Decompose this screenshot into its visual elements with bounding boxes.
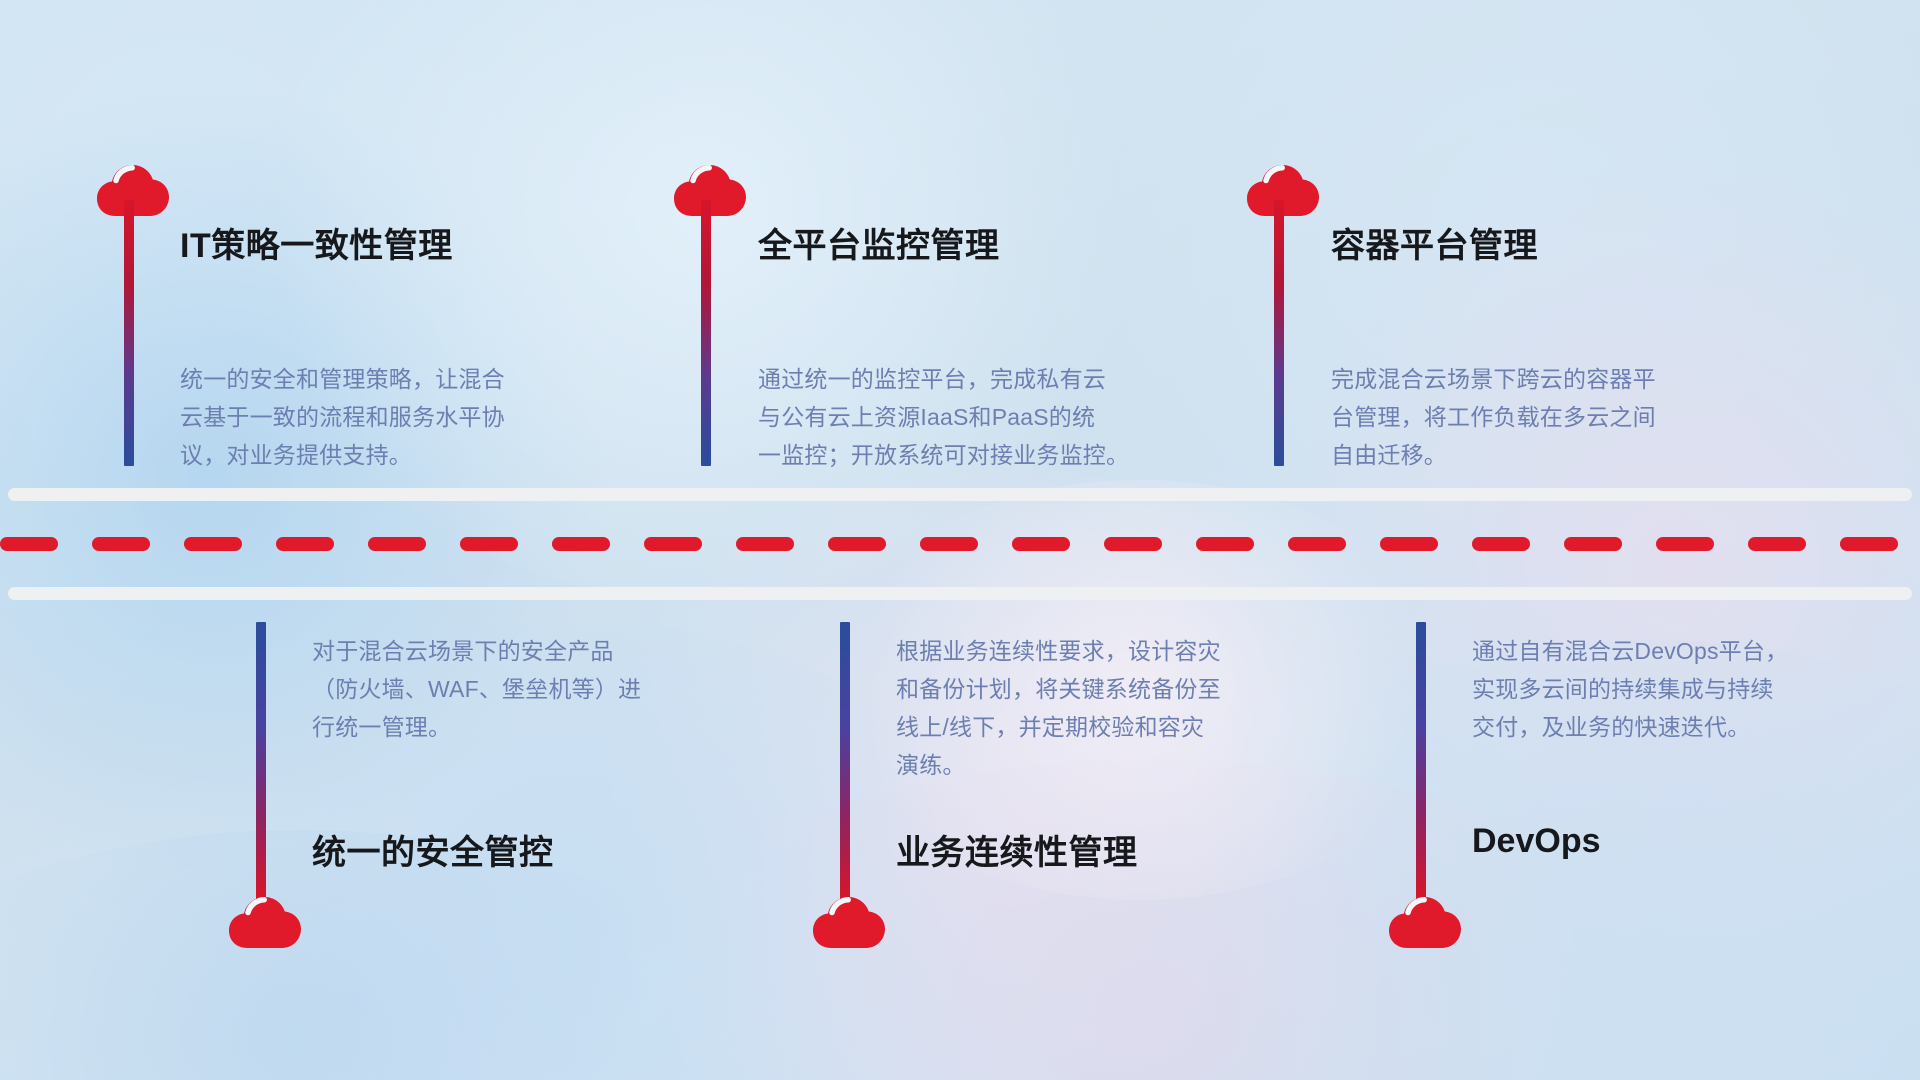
road-divider	[0, 488, 1920, 600]
cloud-icon	[672, 160, 750, 218]
body-line: 云基于一致的流程和服务水平协	[180, 398, 505, 436]
column-body: 对于混合云场景下的安全产品 （防火墙、WAF、堡垒机等）进 行统一管理。	[312, 632, 641, 746]
column-body: 完成混合云场景下跨云的容器平 台管理，将工作负载在多云之间 自由迁移。	[1331, 360, 1656, 474]
road-dash	[1564, 537, 1622, 551]
connector-stem	[840, 622, 850, 900]
cloud-icon	[1245, 160, 1323, 218]
column-body: 根据业务连续性要求，设计容灾 和备份计划，将关键系统备份至 线上/线下，并定期校…	[896, 632, 1221, 784]
column-title: 业务连续性管理	[896, 825, 1138, 874]
road-dash	[460, 537, 518, 551]
road-dash	[1840, 537, 1898, 551]
cloud-icon	[1387, 892, 1465, 950]
cloud-icon	[811, 892, 889, 950]
road-center-dashes	[0, 536, 1920, 551]
body-line: 议，对业务提供支持。	[180, 436, 505, 474]
column-title: 统一的安全管控	[312, 825, 554, 874]
connector-stem	[701, 200, 711, 466]
body-line: 统一的安全和管理策略，让混合	[180, 360, 505, 398]
body-line: 线上/线下，并定期校验和容灾	[896, 708, 1221, 746]
background-blob	[0, 90, 620, 870]
column-title: IT策略一致性管理	[180, 218, 453, 267]
body-line: 与公有云上资源IaaS和PaaS的统	[758, 398, 1129, 436]
body-line: 对于混合云场景下的安全产品	[312, 632, 641, 670]
connector-stem	[1274, 200, 1284, 466]
body-line: 根据业务连续性要求，设计容灾	[896, 632, 1221, 670]
road-dash	[184, 537, 242, 551]
road-dash	[1012, 537, 1070, 551]
road-edge-bottom	[8, 587, 1912, 600]
road-dash	[276, 537, 334, 551]
road-dash	[1288, 537, 1346, 551]
road-dash	[644, 537, 702, 551]
body-line: 行统一管理。	[312, 708, 641, 746]
connector-stem	[1416, 622, 1426, 900]
body-line: 台管理，将工作负载在多云之间	[1331, 398, 1656, 436]
body-line: 通过统一的监控平台，完成私有云	[758, 360, 1129, 398]
column-title: 容器平台管理	[1331, 218, 1538, 267]
cloud-icon	[227, 892, 305, 950]
column-body: 通过自有混合云DevOps平台， 实现多云间的持续集成与持续 交付，及业务的快速…	[1472, 632, 1788, 746]
body-line: 通过自有混合云DevOps平台，	[1472, 632, 1788, 670]
body-line: 一监控；开放系统可对接业务监控。	[758, 436, 1129, 474]
road-dash	[920, 537, 978, 551]
road-dash	[736, 537, 794, 551]
road-dash	[1748, 537, 1806, 551]
road-dash	[368, 537, 426, 551]
road-dash	[552, 537, 610, 551]
connector-stem	[124, 200, 134, 466]
body-line: 自由迁移。	[1331, 436, 1656, 474]
background-blob	[600, 760, 1700, 1080]
column-title: DevOps	[1472, 822, 1601, 861]
road-dash	[1380, 537, 1438, 551]
road-dash	[1196, 537, 1254, 551]
body-line: 实现多云间的持续集成与持续	[1472, 670, 1788, 708]
body-line: 交付，及业务的快速迭代。	[1472, 708, 1788, 746]
cloud-icon	[95, 160, 173, 218]
road-dash	[828, 537, 886, 551]
connector-stem	[256, 622, 266, 900]
infographic-canvas: IT策略一致性管理 统一的安全和管理策略，让混合 云基于一致的流程和服务水平协 …	[0, 0, 1920, 1080]
body-line: 完成混合云场景下跨云的容器平	[1331, 360, 1656, 398]
body-line: 演练。	[896, 746, 1221, 784]
road-edge-top	[8, 488, 1912, 501]
column-title: 全平台监控管理	[758, 218, 1000, 267]
column-body: 通过统一的监控平台，完成私有云 与公有云上资源IaaS和PaaS的统 一监控；开…	[758, 360, 1129, 474]
column-body: 统一的安全和管理策略，让混合 云基于一致的流程和服务水平协 议，对业务提供支持。	[180, 360, 505, 474]
road-dash	[0, 537, 58, 551]
road-dash	[92, 537, 150, 551]
road-dash	[1656, 537, 1714, 551]
road-dash	[1472, 537, 1530, 551]
body-line: （防火墙、WAF、堡垒机等）进	[312, 670, 641, 708]
road-dash	[1104, 537, 1162, 551]
body-line: 和备份计划，将关键系统备份至	[896, 670, 1221, 708]
